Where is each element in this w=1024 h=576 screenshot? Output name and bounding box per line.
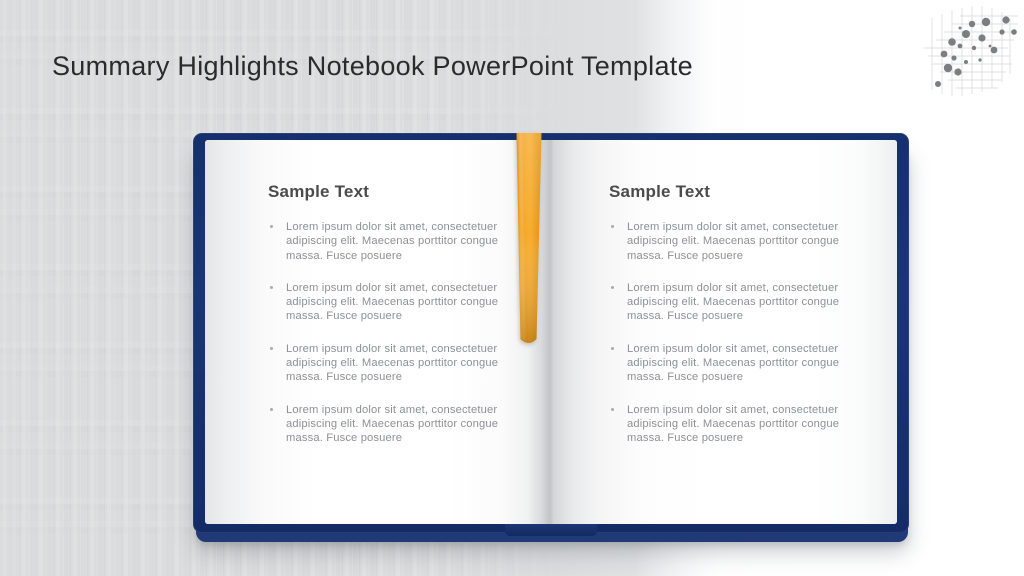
list-item-text: Lorem ipsum dolor sit amet, consectetuer… — [286, 404, 498, 445]
right-page: Sample Text Lorem ipsum dolor sit amet, … — [551, 140, 897, 524]
left-page-heading: Sample Text — [268, 182, 527, 202]
right-page-heading: Sample Text — [609, 182, 867, 202]
bullet-dot-icon — [611, 347, 614, 350]
list-item-text: Lorem ipsum dolor sit amet, consectetuer… — [627, 343, 839, 384]
list-item: Lorem ipsum dolor sit amet, consectetuer… — [609, 342, 841, 385]
page-title: Summary Highlights Notebook PowerPoint T… — [52, 48, 693, 84]
list-item-text: Lorem ipsum dolor sit amet, consectetuer… — [286, 343, 498, 384]
list-item: Lorem ipsum dolor sit amet, consectetuer… — [268, 342, 500, 385]
list-item: Lorem ipsum dolor sit amet, consectetuer… — [268, 220, 500, 263]
list-item: Lorem ipsum dolor sit amet, consectetuer… — [609, 403, 841, 446]
bullet-dot-icon — [270, 286, 273, 289]
list-item-text: Lorem ipsum dolor sit amet, consectetuer… — [627, 282, 839, 323]
book-spine-tab — [505, 524, 597, 536]
notebook-pages: Sample Text Lorem ipsum dolor sit amet, … — [205, 140, 897, 524]
slide-canvas: Summary Highlights Notebook PowerPoint T… — [0, 0, 1024, 576]
list-item-text: Lorem ipsum dolor sit amet, consectetuer… — [627, 221, 839, 262]
list-item-text: Lorem ipsum dolor sit amet, consectetuer… — [627, 404, 839, 445]
list-item: Lorem ipsum dolor sit amet, consectetuer… — [268, 403, 500, 446]
bullet-dot-icon — [611, 408, 614, 411]
bullet-dot-icon — [270, 347, 273, 350]
dot-grid-decoration-icon — [914, 2, 1018, 98]
list-item: Lorem ipsum dolor sit amet, consectetuer… — [609, 281, 841, 324]
bookmark-ribbon-icon — [512, 133, 546, 355]
list-item: Lorem ipsum dolor sit amet, consectetuer… — [268, 281, 500, 324]
bullet-dot-icon — [270, 408, 273, 411]
left-page: Sample Text Lorem ipsum dolor sit amet, … — [205, 140, 551, 524]
bullet-dot-icon — [611, 225, 614, 228]
bullet-dot-icon — [270, 225, 273, 228]
right-page-bullet-list: Lorem ipsum dolor sit amet, consectetuer… — [609, 220, 867, 446]
list-item-text: Lorem ipsum dolor sit amet, consectetuer… — [286, 282, 498, 323]
bullet-dot-icon — [611, 286, 614, 289]
list-item: Lorem ipsum dolor sit amet, consectetuer… — [609, 220, 841, 263]
left-page-bullet-list: Lorem ipsum dolor sit amet, consectetuer… — [268, 220, 527, 446]
list-item-text: Lorem ipsum dolor sit amet, consectetuer… — [286, 221, 498, 262]
